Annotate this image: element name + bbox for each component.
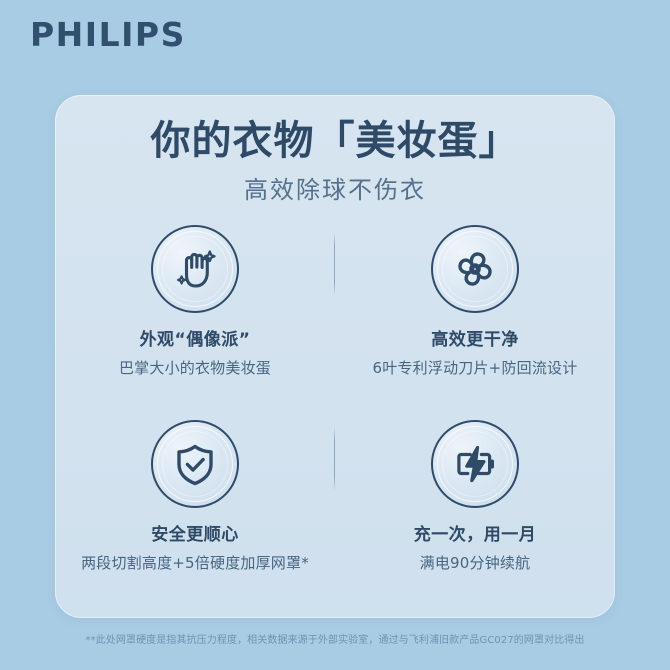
- feature-title: 高效更干净: [431, 329, 519, 351]
- fan-blades-icon: [431, 225, 519, 313]
- feature-item-safety: 安全更顺心 两段切割高度+5倍硬度加厚网罩*: [55, 415, 335, 610]
- feature-item-efficiency: 高效更干净 6叶专利浮动刀片+防回流设计: [335, 220, 615, 415]
- feature-item-appearance: 外观“偶像派” 巴掌大小的衣物美妆蛋: [55, 220, 335, 415]
- battery-charging-icon: [431, 420, 519, 508]
- feature-card: 你的衣物「美妆蛋」 高效除球不伤衣 外观“偶像派” 巴掌大小的衣物美妆蛋: [55, 95, 615, 618]
- philips-brand-logo: PHILIPS: [30, 18, 186, 51]
- feature-subtitle: 两段切割高度+5倍硬度加厚网罩*: [81, 553, 309, 573]
- sparkle-hand-icon: [151, 225, 239, 313]
- feature-grid: 外观“偶像派” 巴掌大小的衣物美妆蛋 高效更干净 6叶专利浮动刀片+防回流设计: [55, 220, 615, 610]
- feature-subtitle: 满电90分钟续航: [420, 553, 531, 573]
- shield-check-icon: [151, 420, 239, 508]
- feature-subtitle: 6叶专利浮动刀片+防回流设计: [373, 358, 578, 378]
- page-subtitle: 高效除球不伤衣: [55, 175, 615, 206]
- feature-title: 安全更顺心: [151, 524, 239, 546]
- feature-title: 外观“偶像派”: [140, 329, 251, 351]
- page-title: 你的衣物「美妆蛋」: [55, 117, 615, 165]
- feature-title: 充一次，用一月: [414, 524, 537, 546]
- feature-item-battery: 充一次，用一月 满电90分钟续航: [335, 415, 615, 610]
- footnote-disclaimer: **此处网罩硬度是指其抗压力程度，相关数据来源于外部实验室，通过与飞利浦旧款产品…: [0, 634, 670, 648]
- feature-subtitle: 巴掌大小的衣物美妆蛋: [119, 358, 271, 378]
